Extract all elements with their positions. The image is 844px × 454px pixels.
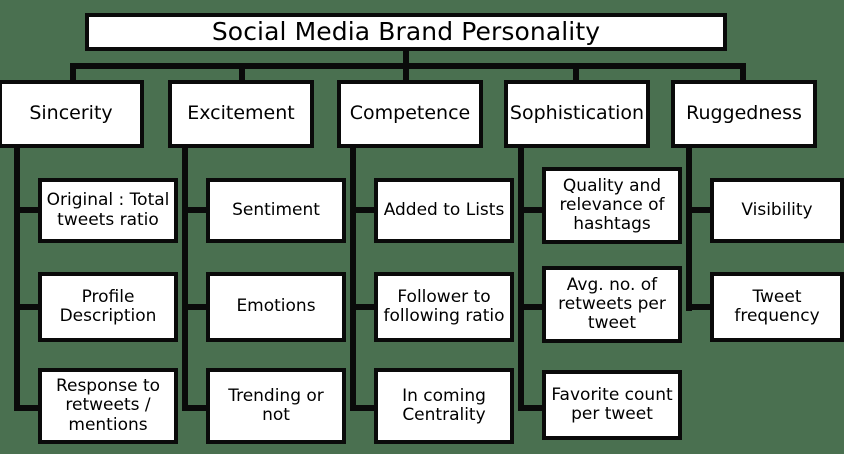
leaf-node-visibility[interactable]: Visibility [710, 178, 844, 243]
connector-spine-4 [518, 144, 524, 411]
leaf-node-original-total-tweets-ratio[interactable]: Original : Total tweets ratio [38, 178, 178, 243]
leaf-node-added-to-lists[interactable]: Added to Lists [374, 178, 514, 243]
connector-spine-1 [14, 144, 20, 411]
category-node-excitement[interactable]: Excitement [168, 80, 314, 148]
root-node[interactable]: Social Media Brand Personality [85, 13, 727, 51]
category-node-sophistication[interactable]: Sophistication [504, 80, 650, 148]
category-node-competence[interactable]: Competence [337, 80, 483, 148]
org-chart-diagram: Social Media Brand Personality Sincerity… [0, 0, 844, 454]
leaf-node-profile-description[interactable]: Profile Description [38, 272, 178, 342]
leaf-node-avg-no-of-retweets-per-tweet[interactable]: Avg. no. of retweets per tweet [542, 266, 682, 343]
leaf-node-tweet-frequency[interactable]: Tweet frequency [710, 272, 844, 342]
leaf-node-quality-and-relevance-of-hashtags[interactable]: Quality and relevance of hashtags [542, 167, 682, 244]
category-node-sincerity[interactable]: Sincerity [0, 80, 144, 148]
leaf-node-trending-or-not[interactable]: Trending or not [206, 368, 346, 444]
leaf-node-response-to-retweets-mentions[interactable]: Response to retweets / mentions [38, 368, 178, 444]
leaf-node-sentiment[interactable]: Sentiment [206, 178, 346, 243]
category-node-ruggedness[interactable]: Ruggedness [671, 80, 817, 148]
leaf-node-emotions[interactable]: Emotions [206, 272, 346, 342]
connector-spine-2 [182, 144, 188, 411]
leaf-node-favorite-count-per-tweet[interactable]: Favorite count per tweet [542, 370, 682, 440]
leaf-node-in-coming-centrality[interactable]: In coming Centrality [374, 368, 514, 444]
connector-spine-3 [350, 144, 356, 411]
leaf-node-follower-to-following-ratio[interactable]: Follower to following ratio [374, 272, 514, 342]
connector-spine-5 [686, 144, 692, 311]
